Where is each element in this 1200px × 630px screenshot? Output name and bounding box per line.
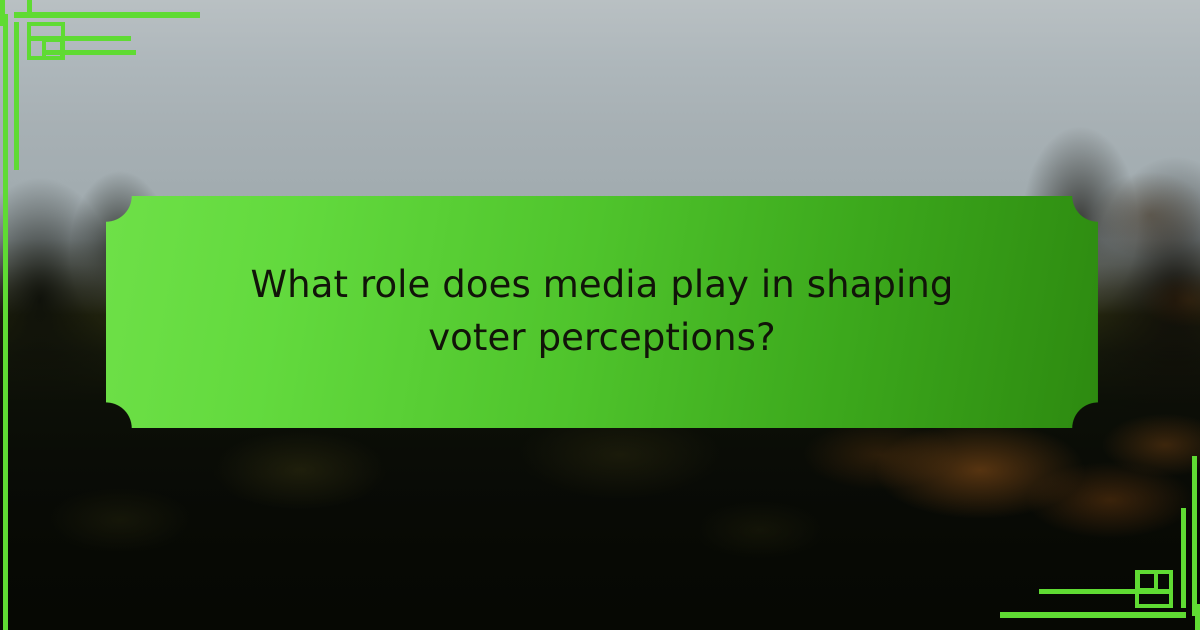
bracket-square-inner	[1136, 570, 1158, 592]
bracket-line-horizontal-long	[14, 12, 200, 18]
bracket-line-horizontal-long	[1000, 612, 1186, 618]
bracket-line-vertical-short	[14, 22, 19, 170]
bracket-line-vertical-long	[3, 14, 8, 630]
question-card: What role does media play in shaping vot…	[106, 196, 1098, 428]
bracket-line-vertical-short	[1181, 508, 1186, 608]
question-card-banner: What role does media play in shaping vot…	[0, 0, 1200, 630]
question-text: What role does media play in shaping vot…	[106, 259, 1098, 364]
bracket-line-vertical-long	[1192, 456, 1197, 616]
bracket-square-inner	[42, 38, 64, 60]
